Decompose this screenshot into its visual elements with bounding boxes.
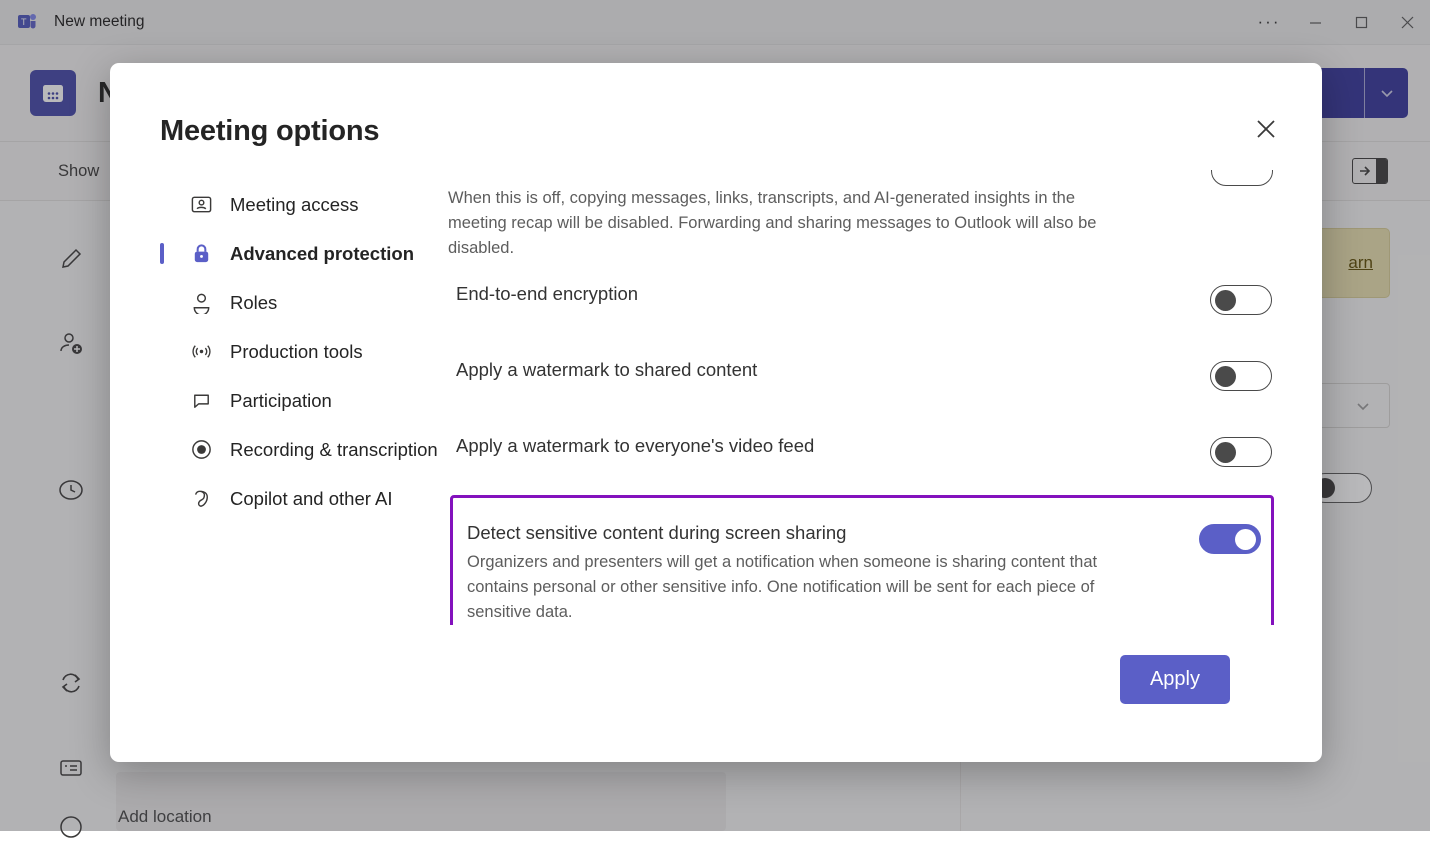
toggle-knob <box>1215 366 1236 387</box>
lock-icon <box>188 241 214 267</box>
options-scroll-area[interactable]: When this is off, copying messages, link… <box>448 170 1276 625</box>
sidebar-item-participation[interactable]: Participation <box>160 376 438 425</box>
toggle-knob <box>1215 442 1236 463</box>
option-text: Apply a watermark to shared content <box>456 359 1186 381</box>
sidebar-item-label: Meeting access <box>230 194 359 216</box>
dialog-footer: Apply <box>448 625 1276 704</box>
toggle-end-to-end-encryption[interactable] <box>1210 285 1272 315</box>
option-row-detect-sensitive-content: Detect sensitive content during screen s… <box>459 500 1265 625</box>
sidebar-item-label: Participation <box>230 390 332 412</box>
option-row-watermark-video-feed: Apply a watermark to everyone's video fe… <box>448 413 1276 489</box>
option-text: Detect sensitive content during screen s… <box>467 522 1175 625</box>
toggle-watermark-video-feed[interactable] <box>1210 437 1272 467</box>
selection-indicator <box>160 390 164 411</box>
sidebar-item-label: Production tools <box>230 341 363 363</box>
sidebar-item-label: Recording & transcription <box>230 439 438 461</box>
sidebar-item-production-tools[interactable]: Production tools <box>160 327 438 376</box>
apply-button[interactable]: Apply <box>1120 655 1230 704</box>
option-text: End-to-end encryption <box>456 283 1186 305</box>
toggle-watermark-shared-content[interactable] <box>1210 361 1272 391</box>
person-icon <box>188 290 214 316</box>
dialog-body: Meeting access Advanced protection <box>110 148 1322 747</box>
dialog-sidebar: Meeting access Advanced protection <box>110 170 438 747</box>
copilot-icon <box>188 486 214 512</box>
sidebar-item-copilot-and-other-ai[interactable]: Copilot and other AI <box>160 474 438 523</box>
record-icon <box>188 437 214 463</box>
sidebar-item-recording-transcription[interactable]: Recording & transcription <box>160 425 438 474</box>
selection-indicator <box>160 341 164 362</box>
option-label: Apply a watermark to shared content <box>456 359 1186 381</box>
option-label: Detect sensitive content during screen s… <box>467 522 1175 544</box>
highlighted-option-box: Detect sensitive content during screen s… <box>450 495 1274 625</box>
selection-indicator <box>160 292 164 313</box>
toggle-detect-sensitive-content[interactable] <box>1199 524 1261 554</box>
chat-bubble-icon <box>188 388 214 414</box>
helper-text: When this is off, copying messages, link… <box>448 170 1138 261</box>
sidebar-item-meeting-access[interactable]: Meeting access <box>160 180 438 229</box>
meeting-options-dialog: Meeting options Meeting access <box>110 63 1322 762</box>
selection-indicator <box>160 439 164 460</box>
sidebar-item-roles[interactable]: Roles <box>160 278 438 327</box>
close-icon <box>1254 117 1278 141</box>
option-row-end-to-end-encryption: End-to-end encryption <box>448 261 1276 337</box>
option-row-watermark-shared-content: Apply a watermark to shared content <box>448 337 1276 413</box>
dialog-header: Meeting options <box>110 63 1322 148</box>
sidebar-item-label: Roles <box>230 292 277 314</box>
dialog-close-button[interactable] <box>1248 111 1284 147</box>
sidebar-item-label: Copilot and other AI <box>230 488 393 510</box>
page-title: Meeting options <box>160 115 1272 148</box>
selection-indicator <box>160 194 164 215</box>
option-description: Organizers and presenters will get a not… <box>467 550 1147 625</box>
option-text: Apply a watermark to everyone's video fe… <box>456 435 1186 457</box>
option-label: End-to-end encryption <box>456 283 1186 305</box>
broadcast-icon <box>188 339 214 365</box>
toggle-knob <box>1215 290 1236 311</box>
selection-indicator <box>160 488 164 509</box>
contact-card-icon <box>188 192 214 218</box>
previous-option-toggle[interactable] <box>1211 170 1273 186</box>
option-label: Apply a watermark to everyone's video fe… <box>456 435 1186 457</box>
dialog-content: When this is off, copying messages, link… <box>438 170 1322 747</box>
selection-indicator <box>160 243 164 264</box>
sidebar-item-label: Advanced protection <box>230 243 414 265</box>
toggle-knob <box>1235 529 1256 550</box>
sidebar-item-advanced-protection[interactable]: Advanced protection <box>160 229 438 278</box>
